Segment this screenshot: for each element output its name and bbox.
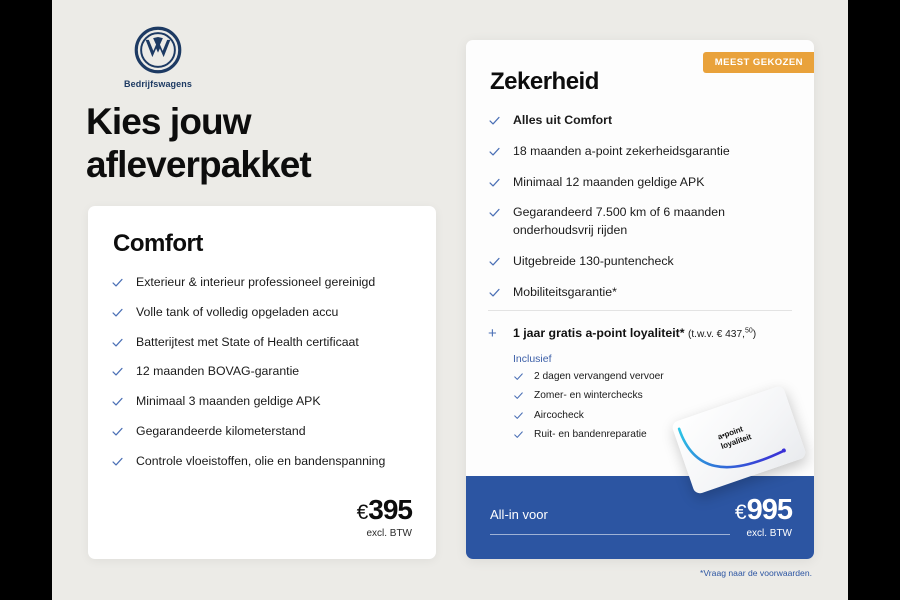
list-item-label: 2 dagen vervangend vervoer (534, 371, 664, 382)
list-item-label: Gegarandeerde kilometerstand (136, 424, 306, 438)
check-icon (488, 145, 501, 158)
zekerheid-price-note: excl. BTW (735, 528, 792, 539)
check-icon (488, 114, 501, 127)
list-item-label: Controle vloeistoffen, olie en bandenspa… (136, 454, 385, 468)
list-item: 12 maanden BOVAG-garantie (111, 363, 411, 381)
zekerheid-currency: € (735, 501, 747, 524)
comfort-title: Comfort (113, 230, 203, 258)
zekerheid-price: €995 (735, 496, 792, 525)
list-item-label: Minimaal 3 maanden geldige APK (136, 394, 321, 408)
list-item-label: Mobiliteitsgarantie* (513, 285, 617, 299)
check-icon (111, 455, 124, 468)
check-icon (111, 425, 124, 438)
brand-subtitle: Bedrijfswagens (98, 79, 218, 89)
comfort-price-block: €395 excl. BTW (357, 496, 412, 539)
list-item: Gegarandeerde kilometerstand (111, 423, 411, 441)
comfort-price-value: 395 (368, 494, 412, 525)
check-icon (111, 365, 124, 378)
footer-rule (490, 534, 730, 535)
allin-label: All-in voor (490, 507, 548, 522)
list-item-label: 18 maanden a-point zekerheidsgarantie (513, 144, 730, 158)
loyalty-title: 1 jaar gratis a-point loyaliteit* (513, 326, 685, 340)
check-icon (488, 255, 501, 268)
page-title-line1: Kies jouw (86, 101, 251, 142)
page-title: Kies jouw afleverpakket (86, 100, 506, 187)
list-item: Zomer- en winterchecks (513, 389, 743, 402)
check-icon (488, 176, 501, 189)
list-item-label: Zomer- en winterchecks (534, 390, 643, 401)
list-item-label: Aircocheck (534, 410, 584, 421)
zekerheid-feature-list: Alles uit Comfort18 maanden a-point zeke… (488, 112, 798, 315)
check-icon (513, 371, 524, 382)
package-card-comfort[interactable]: Comfort Exterieur & interieur profession… (88, 206, 436, 559)
list-item: Uitgebreide 130-puntencheck (488, 253, 798, 271)
included-label: Inclusief (513, 353, 800, 365)
package-card-zekerheid[interactable]: MEEST GEKOZEN Zekerheid Alles uit Comfor… (466, 40, 814, 559)
comfort-currency: € (357, 501, 369, 524)
zekerheid-title: Zekerheid (490, 68, 599, 96)
list-item-label: Batterijtest met State of Health certifi… (136, 335, 359, 349)
list-item: Controle vloeistoffen, olie en bandenspa… (111, 453, 411, 471)
list-item: Alles uit Comfort (488, 112, 798, 130)
list-item-label: Volle tank of volledig opgeladen accu (136, 305, 338, 319)
list-item: Gegarandeerd 7.500 km of 6 maanden onder… (488, 204, 798, 240)
loyalty-value-prefix: (t.w.v. € 437, (688, 329, 745, 340)
list-item: Minimaal 3 maanden geldige APK (111, 393, 411, 411)
list-item: Mobiliteitsgarantie* (488, 284, 798, 302)
brand-block: Bedrijfswagens (98, 26, 218, 89)
zekerheid-price-footer: All-in voor €995 excl. BTW (466, 476, 814, 559)
check-icon (513, 410, 524, 421)
loyalty-value-suffix: ) (753, 329, 756, 340)
list-item: Batterijtest met State of Health certifi… (111, 334, 411, 352)
list-item: 2 dagen vervangend vervoer (513, 370, 743, 383)
page-title-line2: afleverpakket (86, 143, 506, 186)
section-divider (488, 310, 792, 311)
plus-icon: + (488, 326, 497, 341)
vw-logo-icon (134, 26, 182, 74)
list-item: Volle tank of volledig opgeladen accu (111, 304, 411, 322)
footnote: *Vraag naar de voorwaarden. (700, 568, 812, 578)
list-item-label: Gegarandeerd 7.500 km of 6 maanden onder… (513, 205, 725, 237)
screenshot-stage: Bedrijfswagens Kies jouw afleverpakket C… (0, 0, 900, 600)
comfort-price-note: excl. BTW (357, 528, 412, 539)
check-icon (111, 276, 124, 289)
list-item-label: Minimaal 12 maanden geldige APK (513, 175, 704, 189)
check-icon (111, 306, 124, 319)
check-icon (513, 390, 524, 401)
zekerheid-price-value: 995 (747, 494, 792, 526)
check-icon (488, 286, 501, 299)
comfort-price: €395 (357, 496, 412, 524)
check-icon (111, 336, 124, 349)
check-icon (513, 429, 524, 440)
page-content: Bedrijfswagens Kies jouw afleverpakket C… (52, 0, 848, 600)
status-badge: MEEST GEKOZEN (703, 52, 814, 73)
list-item-label: Exterieur & interieur professioneel gere… (136, 275, 375, 289)
list-item-label: Uitgebreide 130-puntencheck (513, 254, 674, 268)
check-icon (111, 395, 124, 408)
check-icon (488, 206, 501, 219)
zekerheid-price-block: €995 excl. BTW (735, 496, 792, 539)
list-item: 18 maanden a-point zekerheidsgarantie (488, 143, 798, 161)
list-item-label: 12 maanden BOVAG-garantie (136, 364, 299, 378)
list-item-label: Alles uit Comfort (513, 113, 612, 127)
list-item-label: Ruit- en bandenreparatie (534, 429, 647, 440)
list-item: Minimaal 12 maanden geldige APK (488, 174, 798, 192)
loyalty-value-note: (t.w.v. € 437,50) (688, 329, 756, 340)
comfort-feature-list: Exterieur & interieur professioneel gere… (111, 274, 411, 483)
list-item: Exterieur & interieur professioneel gere… (111, 274, 411, 292)
loyalty-value-cents: 50 (745, 328, 753, 335)
loyalty-headline: + 1 jaar gratis a-point loyaliteit* (t.w… (488, 326, 800, 340)
